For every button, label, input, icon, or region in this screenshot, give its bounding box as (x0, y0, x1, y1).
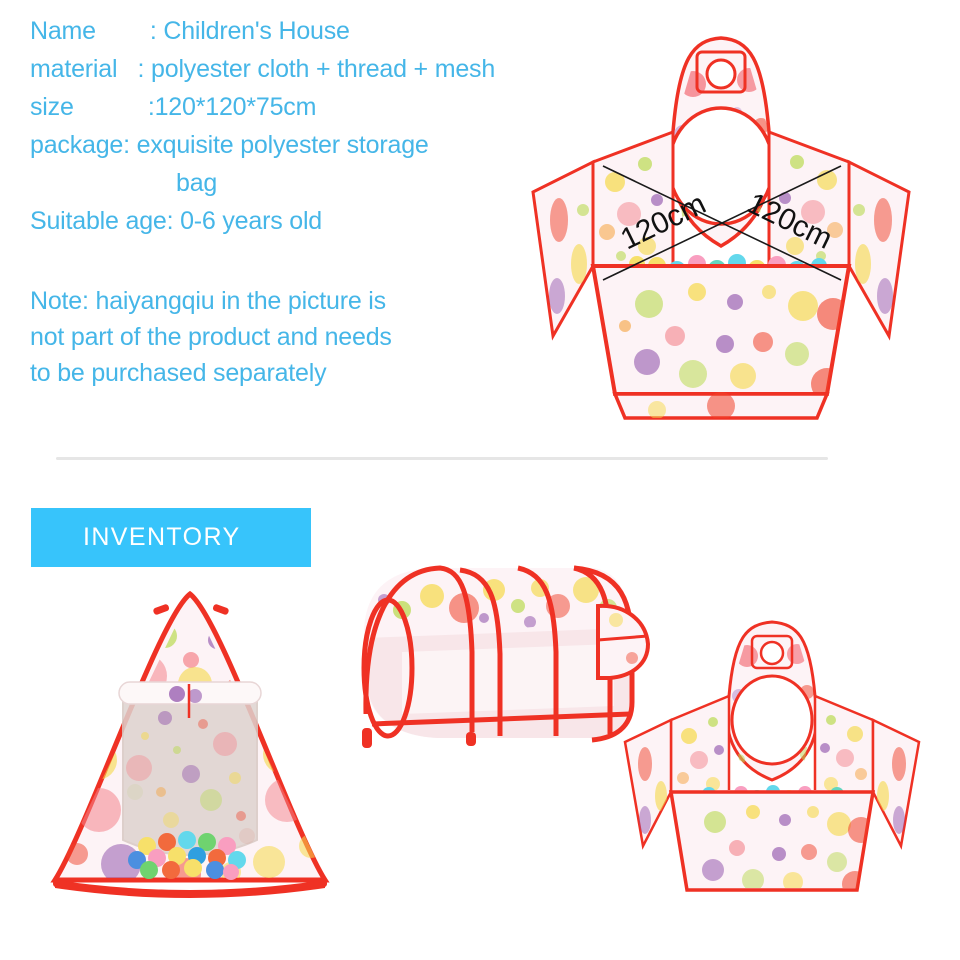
section-divider (56, 457, 828, 460)
pit-hoop-backboard (727, 622, 817, 780)
pit-front-panel (593, 266, 849, 420)
inventory-photo-play-tent (25, 578, 355, 930)
inventory-photo-ball-pit (607, 608, 937, 908)
disclaimer-note: Note: haiyangqiu in the picture is not p… (30, 283, 560, 391)
note-line-2: not part of the product and needs (30, 319, 560, 355)
tunnel-mesh-highlight (402, 644, 614, 714)
tent-base-hem (55, 880, 325, 898)
note-line-3: to be purchased separately (30, 355, 560, 391)
inventory-banner-label: INVENTORY (31, 523, 241, 552)
hero-product-photo: 120cm 120cm (497, 14, 945, 434)
note-line-1: Note: haiyangqiu in the picture is (30, 283, 560, 319)
product-listing-page: Name : Children's House material : polye… (0, 0, 960, 960)
pit-front-panel-2 (671, 792, 874, 897)
inventory-banner: INVENTORY (31, 508, 311, 567)
